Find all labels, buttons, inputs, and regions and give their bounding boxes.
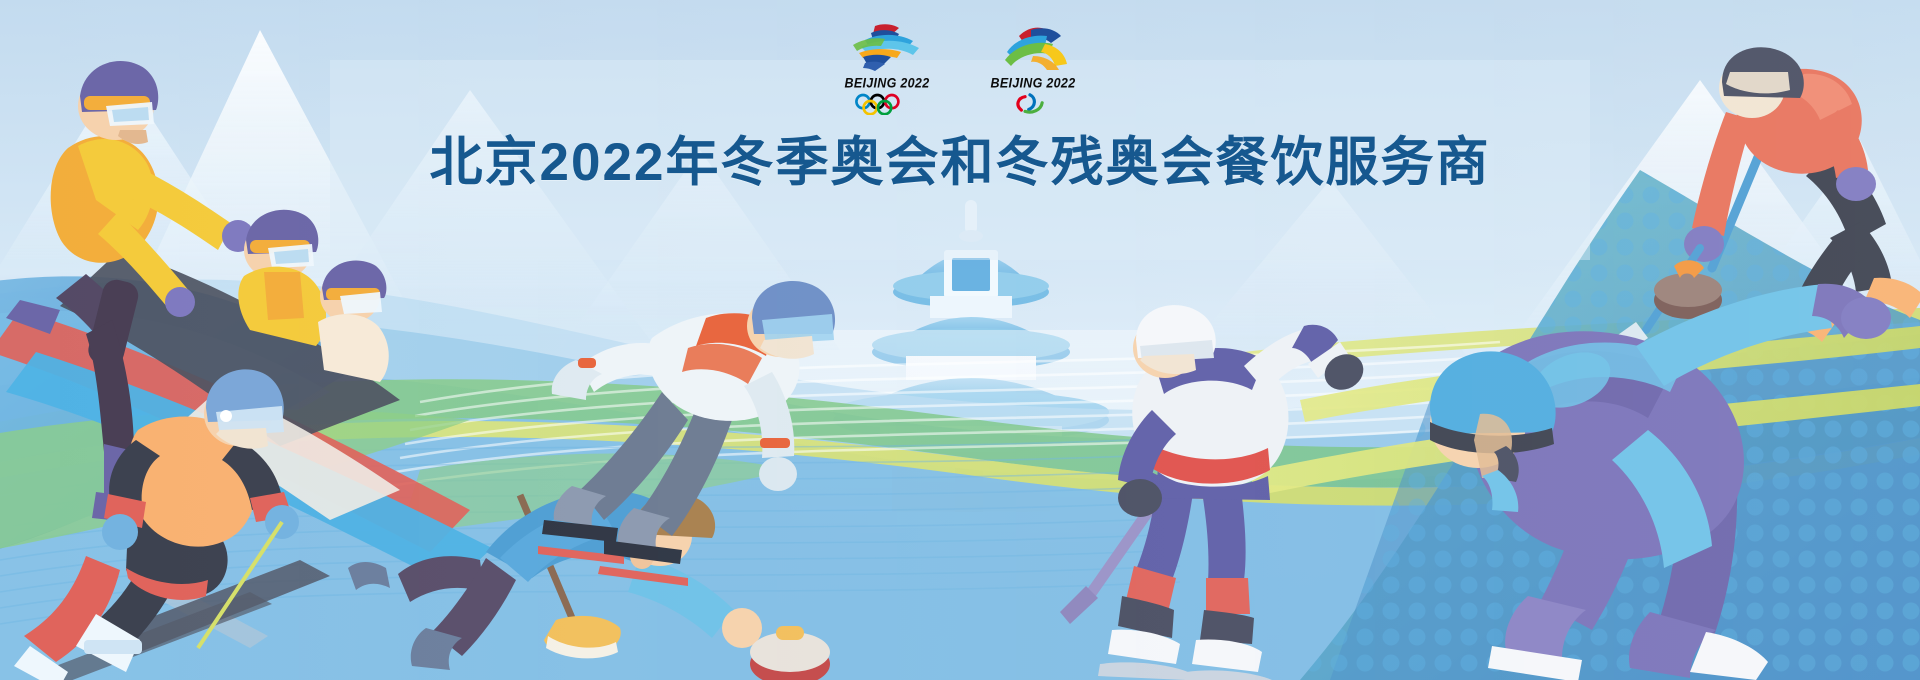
beijing-2022-olympic-emblem-icon (839, 22, 935, 74)
beijing-2022-catering-banner: BEIJING 2022 (0, 0, 1920, 680)
paralympic-emblem-block: BEIJING 2022 (984, 22, 1082, 115)
olympic-rings-icon (851, 93, 923, 115)
emblem-row: BEIJING 2022 (0, 22, 1920, 115)
paralympic-wordmark: BEIJING 2022 (991, 75, 1076, 91)
olympic-emblem-block: BEIJING 2022 (838, 22, 936, 115)
paralympic-agitos-icon (1006, 93, 1060, 115)
olympic-wordmark: BEIJING 2022 (845, 75, 930, 91)
beijing-2022-paralympic-emblem-icon (985, 22, 1081, 74)
page-title: 北京2022年冬季奥会和冬残奥会餐饮服务商 (0, 120, 1920, 196)
